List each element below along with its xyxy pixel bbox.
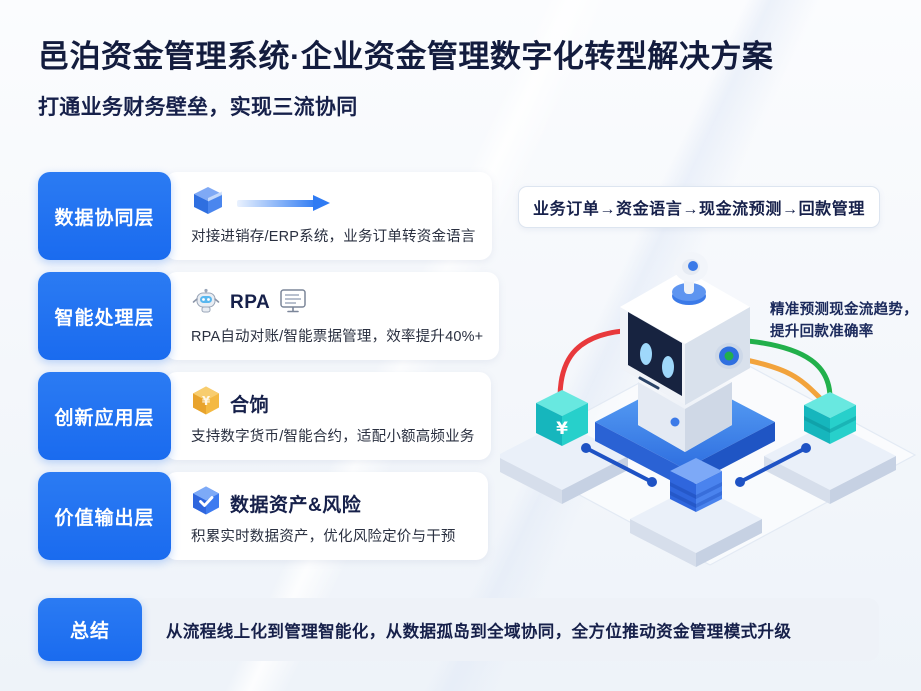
blue-shield-check-icon — [191, 485, 221, 521]
page-title: 邑泊资金管理系统·企业资金管理数字化转型解决方案 — [38, 38, 888, 77]
layer-row-data-collaboration[interactable]: 数据协同层 对接进销存/ERP系统，业务订单转资 — [38, 172, 488, 260]
layer-row-value-output[interactable]: 价值输出层 数据资产&风险 积累实时数据资产，优化风险定价与干预 — [38, 472, 488, 560]
layer-row-innovation-application[interactable]: 创新应用层 ¥ 合饷 支持数字货币/智能合约，适配小额高频业务 — [38, 372, 488, 460]
layer-head — [191, 186, 476, 220]
page-subtitle: 打通业务财务壁垒，实现三流协同 — [38, 91, 888, 121]
layer-description: 积累实时数据资产，优化风险定价与干预 — [191, 525, 472, 546]
layer-head-label: 合饷 — [230, 390, 269, 417]
slide-root: 邑泊资金管理系统·企业资金管理数字化转型解决方案 打通业务财务壁垒，实现三流协同… — [0, 0, 921, 691]
layer-head-label: RPA — [230, 292, 270, 314]
layer-badge: 创新应用层 — [38, 372, 171, 460]
layer-body: 对接进销存/ERP系统，业务订单转资金语言 — [165, 172, 492, 260]
layer-body: ¥ 合饷 支持数字货币/智能合约，适配小额高频业务 — [165, 372, 491, 460]
summary-bar: 总结 从流程线上化到管理智能化，从数据孤岛到全域协同，全方位推动资金管理模式升级 — [38, 598, 879, 661]
robot-icon — [191, 286, 221, 321]
layer-head: ¥ 合饷 — [191, 386, 475, 420]
layer-head: 数据资产&风险 — [191, 486, 472, 520]
annotation-line-2: 提升回款准确率 — [770, 322, 920, 344]
svg-text:¥: ¥ — [556, 419, 568, 439]
layer-description: 支持数字货币/智能合约，适配小额高频业务 — [191, 425, 475, 446]
layer-badge: 智能处理层 — [38, 272, 171, 360]
right-arrow-icon — [237, 197, 337, 210]
layer-badge: 数据协同层 — [38, 172, 171, 260]
layer-body: RPA RPA自动对账/智能票据管理，效率提升40%+ — [165, 272, 499, 360]
layer-description: 对接进销存/ERP系统，业务订单转资金语言 — [191, 225, 476, 246]
header: 邑泊资金管理系统·企业资金管理数字化转型解决方案 打通业务财务壁垒，实现三流协同 — [38, 38, 888, 121]
summary-badge: 总结 — [38, 598, 142, 661]
layer-list: 数据协同层 对接进销存/ERP系统，业务订单转资 — [38, 172, 488, 572]
flow-badge-label: 业务订单→资金语言→现金流预测→回款管理 — [533, 195, 865, 219]
flow-badge[interactable]: 业务订单→资金语言→现金流预测→回款管理 — [518, 186, 880, 228]
monitor-icon — [279, 288, 307, 319]
forecast-annotation: 精准预测现金流趋势， 提升回款准确率 — [770, 300, 920, 344]
layer-badge: 价值输出层 — [38, 472, 171, 560]
summary-text: 从流程线上化到管理智能化，从数据孤岛到全域协同，全方位推动资金管理模式升级 — [136, 598, 879, 661]
layer-description: RPA自动对账/智能票据管理，效率提升40%+ — [191, 325, 483, 346]
annotation-line-1: 精准预测现金流趋势， — [770, 300, 920, 322]
layer-body: 数据资产&风险 积累实时数据资产，优化风险定价与干预 — [165, 472, 488, 560]
layer-row-intelligent-processing[interactable]: 智能处理层 — [38, 272, 488, 360]
blue-cube-icon — [191, 185, 225, 222]
layer-head: RPA — [191, 286, 483, 320]
layer-head-label: 数据资产&风险 — [230, 490, 361, 517]
gold-yen-hexagon-icon: ¥ — [191, 385, 221, 421]
svg-text:¥: ¥ — [202, 394, 211, 408]
